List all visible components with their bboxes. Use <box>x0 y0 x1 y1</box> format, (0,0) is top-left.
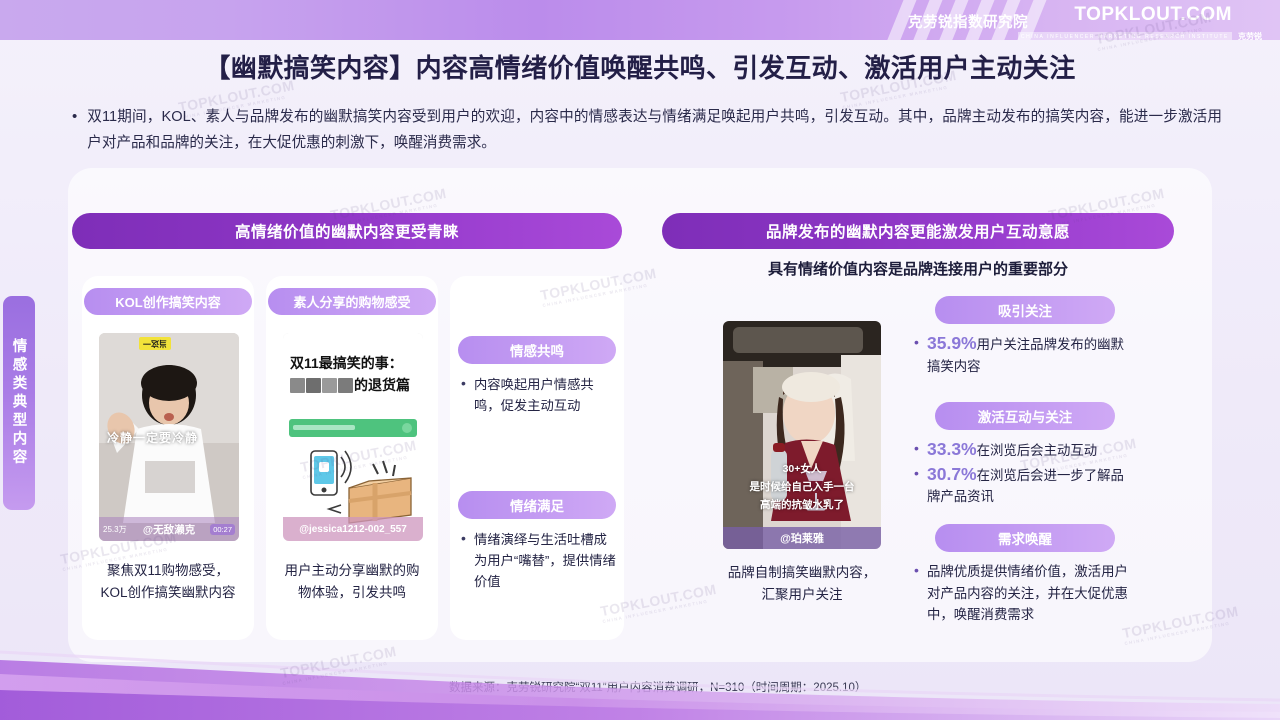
redaction-block-icon <box>322 378 337 393</box>
bullet-marker-icon: • <box>72 104 77 156</box>
pill-attract-attention: 吸引关注 <box>935 296 1115 324</box>
thumbnail-kol-handle: @无敌濑克 <box>143 522 195 537</box>
section-subheader-right: 具有情绪价值内容是品牌连接用户的重要部分 <box>662 258 1174 279</box>
pill-ugc-label: 素人分享的购物感受 <box>268 288 436 315</box>
stat-percentage: 33.3% <box>927 439 977 459</box>
thumbnail-ugc-post[interactable]: 双11最搞笑的事： 的退货篇 @jessica1212-002_557 <box>283 333 423 541</box>
section-header-right: 品牌发布的幽默内容更能激发用户互动意愿 <box>662 213 1174 249</box>
thumbnail-ugc-handle: @jessica1212-002_557 <box>299 524 407 535</box>
lead-paragraph-text: 双11期间，KOL、素人与品牌发布的幽默搞笑内容受到用户的欢迎，内容中的情感表达… <box>87 104 1222 156</box>
list-item: 33.3%在浏览后会主动互动 <box>914 439 1136 462</box>
caption-brand: 品牌自制搞笑幽默内容， 汇聚用户关注 <box>690 562 914 606</box>
list-item: 情绪演绎与生活吐槽成为用户“嘴替”，提供情绪价值 <box>460 529 618 592</box>
thumbnail-brand-overlay-line2: 是时候给自己入手一台 <box>723 479 881 494</box>
side-tab-emotional-content[interactable]: 情感类典型内容 <box>3 296 35 510</box>
pill-emotional-satisfaction: 情绪满足 <box>458 491 616 519</box>
pill-demand-awakening: 需求唤醒 <box>935 524 1115 552</box>
list-item: 30.7%在浏览后会进一步了解品牌产品资讯 <box>914 464 1136 508</box>
block-emotional-satisfaction: 情绪满足 情绪演绎与生活吐槽成为用户“嘴替”，提供情绪价值 <box>450 491 624 592</box>
redaction-block-icon <box>338 378 353 393</box>
bottom-wave-decoration <box>0 634 1280 720</box>
caption-kol: 聚焦双11购物感受， KOL创作搞笑幽默内容 <box>86 560 250 604</box>
stat-block-demand-awakening: 需求唤醒 品牌优质提供情绪价值，激活用户对产品内容的关注，并在大促优惠中，唤醒消… <box>914 524 1136 628</box>
stat-text: 品牌优质提供情绪价值，激活用户对产品内容的关注，并在大促优惠中，唤醒消费需求 <box>927 564 1128 622</box>
pill-activate-interaction: 激活互动与关注 <box>935 402 1115 430</box>
lead-paragraph: • 双11期间，KOL、素人与品牌发布的幽默搞笑内容受到用户的欢迎，内容中的情感… <box>72 104 1222 156</box>
stat-block-activate-interaction: 激活互动与关注 33.3%在浏览后会主动互动 30.7%在浏览后会进一步了解品牌… <box>914 402 1136 510</box>
list-item: 35.9%用户关注品牌发布的幽默搞笑内容 <box>914 333 1136 377</box>
block-emotional-resonance: 情感共鸣 内容唤起用户情感共鸣，促发主动互动 <box>450 336 624 416</box>
logo-tagline: CHINA INFLUENCER MARKETING RESEARCH INST… <box>1018 32 1232 40</box>
thumbnail-brand-artwork <box>723 321 881 549</box>
logo-wordmark: TOPKLOUT.COM <box>1018 5 1232 25</box>
list-item: 品牌优质提供情绪价值，激活用户对产品内容的关注，并在大促优惠中，唤醒消费需求 <box>914 561 1136 626</box>
pill-kol-label: KOL创作搞笑内容 <box>84 288 252 315</box>
redaction-block-icon <box>306 378 321 393</box>
topklout-logo: TOPKLOUT.COM CHINA INFLUENCER MARKETING … <box>1018 5 1262 40</box>
pill-emotional-resonance: 情感共鸣 <box>458 336 616 364</box>
thumbnail-ugc-title-line1: 双11最搞笑的事： <box>290 353 403 373</box>
thumbnail-kol-likes: 25.3万 <box>103 524 127 535</box>
caption-ugc: 用户主动分享幽默的购 物体验，引发共鸣 <box>270 560 434 604</box>
thumbnail-brand-handle: @珀莱雅 <box>780 530 824 546</box>
brand-institute-name: 克劳锐指数研究院 <box>908 11 1028 32</box>
list-item: 内容唤起用户情感共鸣，促发主动互动 <box>460 374 618 416</box>
page-title: 【幽默搞笑内容】内容高情绪价值唤醒共鸣、引发互动、激活用户主动关注 <box>0 48 1280 85</box>
section-header-left: 高情绪价值的幽默内容更受青睐 <box>72 213 622 249</box>
thumbnail-kol-footer: 25.3万 @无敌濑克 00:27 <box>99 517 239 541</box>
thumbnail-kol-duration: 00:27 <box>210 524 235 535</box>
redaction-block-icon <box>290 378 305 393</box>
thumbnail-kol-video[interactable]: 当这一 冷静一定要冷静 25.3万 @无敌濑克 00:27 <box>99 333 239 541</box>
stat-percentage: 35.9% <box>927 333 977 353</box>
stat-text: 在浏览后会主动互动 <box>977 443 1098 458</box>
thumbnail-brand-overlay-line3: 高端的抗皱水乳了 <box>723 497 881 512</box>
thumbnail-ugc-title-row2: 的退货篇 <box>290 375 410 395</box>
stat-block-attract-attention: 吸引关注 35.9%用户关注品牌发布的幽默搞笑内容 <box>914 296 1136 379</box>
thumbnail-ugc-title-line2: 的退货篇 <box>354 375 410 395</box>
logo-chinese-name: 克劳锐 <box>1238 31 1262 40</box>
stat-percentage: 30.7% <box>927 464 977 484</box>
thumbnail-kol-badge: 当这一 <box>139 337 171 350</box>
thumbnail-kol-overlay-text: 冷静一定要冷静 <box>107 429 198 446</box>
thumbnail-ugc-footer: @jessica1212-002_557 <box>283 517 423 541</box>
thumbnail-brand-video[interactable]: 30+女人 是时候给自己入手一台 高端的抗皱水乳了 @珀莱雅 <box>723 321 881 549</box>
thumbnail-brand-overlay-line1: 30+女人 <box>723 461 881 476</box>
thumbnail-brand-footer: @珀莱雅 <box>723 527 881 549</box>
top-header-bar: 克劳锐指数研究院 TOPKLOUT.COM CHINA INFLUENCER M… <box>0 0 1280 40</box>
